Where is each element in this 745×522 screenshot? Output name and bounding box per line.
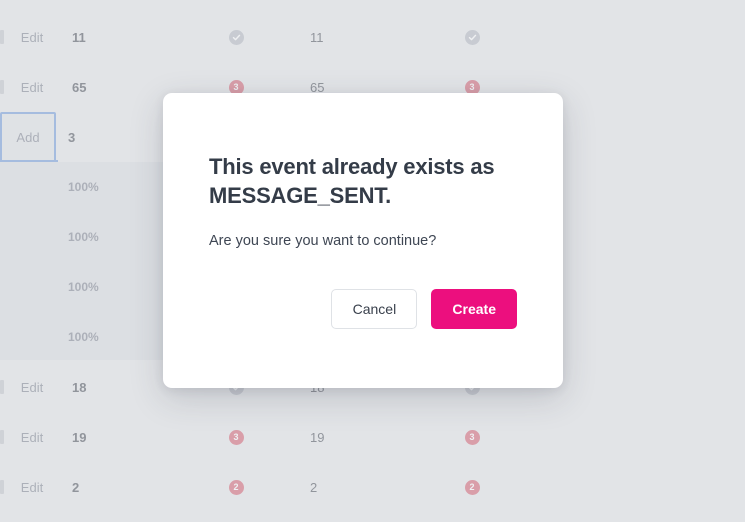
dialog-title: This event already exists as MESSAGE_SEN… [209, 152, 509, 211]
cancel-button[interactable]: Cancel [331, 289, 417, 329]
dialog-actions: Cancel Create [209, 289, 517, 329]
create-button[interactable]: Create [431, 289, 517, 329]
dialog-message: Are you sure you want to continue? [209, 231, 517, 251]
confirm-dialog: This event already exists as MESSAGE_SEN… [163, 93, 563, 388]
app-root: Edit 11 11 Edit 65 3 65 3 [0, 0, 745, 522]
